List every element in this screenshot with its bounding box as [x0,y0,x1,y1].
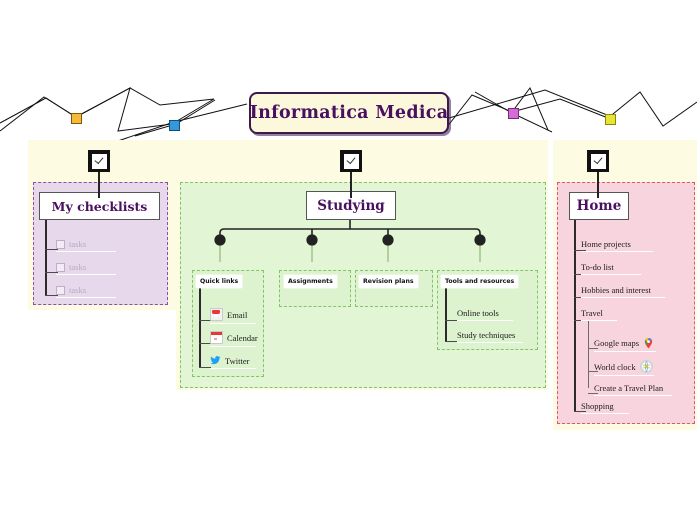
list-item[interactable]: To-do list [581,262,641,272]
stem-right [597,170,599,198]
list-item[interactable]: Email [210,308,256,321]
list-item-label: Travel [581,308,603,318]
email-icon [210,308,223,321]
map-pin-icon [643,337,654,349]
tools-branch-1 [445,320,457,321]
checkbox-empty-icon[interactable] [56,286,65,295]
list-item-label: Calendar [227,333,258,343]
home-trunk [574,218,576,411]
list-item[interactable]: World clock [594,360,654,373]
list-item[interactable]: Google maps [594,337,656,349]
list-item-label: Home projects [581,239,631,249]
mindmap-canvas: Informatica Medica My checklists tasks t… [0,0,697,520]
stem-center [350,170,352,198]
marker-magenta [508,108,519,119]
list-item-label: tasks [69,262,86,272]
page-title-label: Informatica Medica [250,103,449,123]
checkbox-empty-icon[interactable] [56,263,65,272]
node-home[interactable]: Home [569,192,629,220]
list-item[interactable]: Calendar [210,331,256,344]
marker-blue [169,120,180,131]
marker-yellow [605,114,616,125]
checkbox-checked-icon-center[interactable] [340,150,362,172]
checkbox-empty-icon[interactable] [56,240,65,249]
list-item-label: tasks [69,239,86,249]
list-item[interactable]: Online tools [457,308,513,318]
list-item[interactable]: Shopping [581,401,629,411]
list-item-label: tasks [69,285,86,295]
list-item[interactable]: tasks [56,239,116,249]
list-item[interactable]: Study techniques [457,330,523,340]
left-trunk [45,218,47,295]
list-item[interactable]: Create a Travel Plan [594,383,672,393]
list-item-label: World clock [594,362,636,372]
list-item[interactable]: tasks [56,285,116,295]
list-item-label: Hobbies and interest [581,285,651,295]
node-studying-label: Studying [317,198,384,214]
node-tools-and-resources[interactable]: Tools and resources [441,275,518,288]
list-item-label: Online tools [457,308,499,318]
list-item[interactable]: tasks [56,262,116,272]
list-item[interactable]: Twitter [210,355,256,366]
twitter-icon [210,355,221,366]
tools-trunk [445,288,447,341]
node-my-checklists-label: My checklists [52,199,148,214]
list-item-label: Email [227,310,247,320]
list-item-label: To-do list [581,262,614,272]
list-item-label: Create a Travel Plan [594,383,663,393]
list-item-label: Shopping [581,401,614,411]
travel-trunk [588,320,589,388]
list-item-label: Study techniques [457,330,515,340]
node-quick-links[interactable]: Quick links [196,275,242,288]
page-title[interactable]: Informatica Medica [249,92,449,134]
checkbox-checked-icon-left[interactable] [88,150,110,172]
node-revision-plans[interactable]: Revision plans [359,275,418,288]
list-item-label: Google maps [594,338,639,348]
calendar-icon [210,331,223,344]
stem-left [98,170,100,198]
node-home-label: Home [577,198,622,214]
tools-branch-2 [445,341,457,342]
list-item[interactable]: Hobbies and interest [581,285,665,295]
quick-links-trunk [199,288,201,368]
marker-orange [71,113,82,124]
list-item[interactable]: Home projects [581,239,653,249]
list-item-label: Twitter [225,356,249,366]
world-clock-icon [640,360,653,373]
node-assignments[interactable]: Assignments [284,275,337,288]
list-item[interactable]: Travel [581,308,617,318]
checkbox-checked-icon-right[interactable] [587,150,609,172]
